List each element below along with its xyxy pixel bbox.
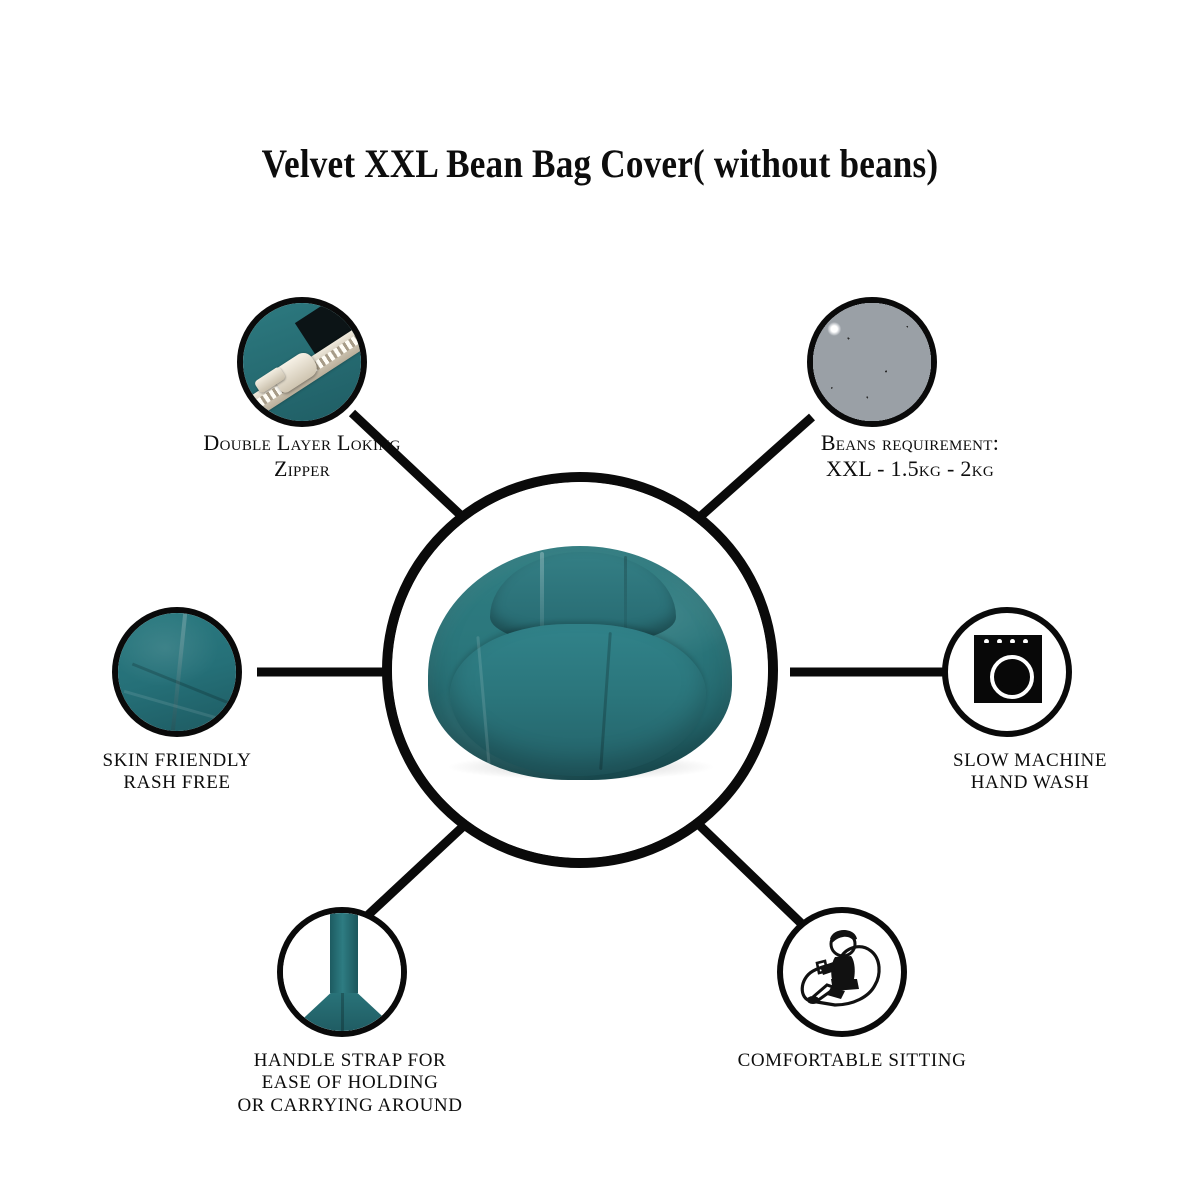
strap-fold [341, 993, 344, 1037]
infographic-canvas: Velvet XXL Bean Bag Cover( without beans… [0, 0, 1200, 1200]
feature-icon-beans-requirement[interactable] [807, 297, 937, 427]
bean-bag-body [428, 546, 732, 780]
feature-label-comfortable-sitting: COMFORTABLE SITTING [712, 1050, 992, 1072]
product-image [392, 482, 768, 858]
washer-door-glass [997, 662, 1023, 688]
feature-label-skin-friendly: SKIN FRIENDLY RASH FREE [77, 750, 277, 795]
feature-icon-handle-strap[interactable] [277, 907, 407, 1037]
fabric-seam [168, 607, 188, 737]
product-hero-circle [382, 472, 778, 868]
zipper-icon [243, 303, 361, 421]
beans-icon [813, 303, 931, 421]
handle-strap-icon [283, 913, 401, 1031]
fabric-seam [132, 663, 242, 711]
feature-icon-machine-wash[interactable] [942, 607, 1072, 737]
feature-label-beans-requirement: Beans requirement: XXL - 1.5kg - 2kg [760, 430, 1060, 482]
feature-icon-skin-friendly[interactable] [112, 607, 242, 737]
strap-band [330, 909, 358, 993]
feature-label-double-layer-zipper: Double Layer Loking Zipper [152, 430, 452, 482]
connector-bottom-right [694, 820, 806, 928]
feature-icon-comfortable-sitting[interactable] [777, 907, 907, 1037]
feature-icon-double-layer-zipper[interactable] [237, 297, 367, 427]
feature-label-machine-wash: SLOW MACHINE HAND WASH [930, 750, 1130, 795]
person-sitting-icon [783, 913, 901, 1031]
fabric-icon [118, 613, 236, 731]
strap-base [287, 989, 401, 1037]
beans-speckles [813, 303, 931, 421]
feature-label-handle-strap: HANDLE STRAP FOR EASE OF HOLDING OR CARR… [230, 1050, 470, 1117]
washing-machine-icon [948, 613, 1066, 731]
